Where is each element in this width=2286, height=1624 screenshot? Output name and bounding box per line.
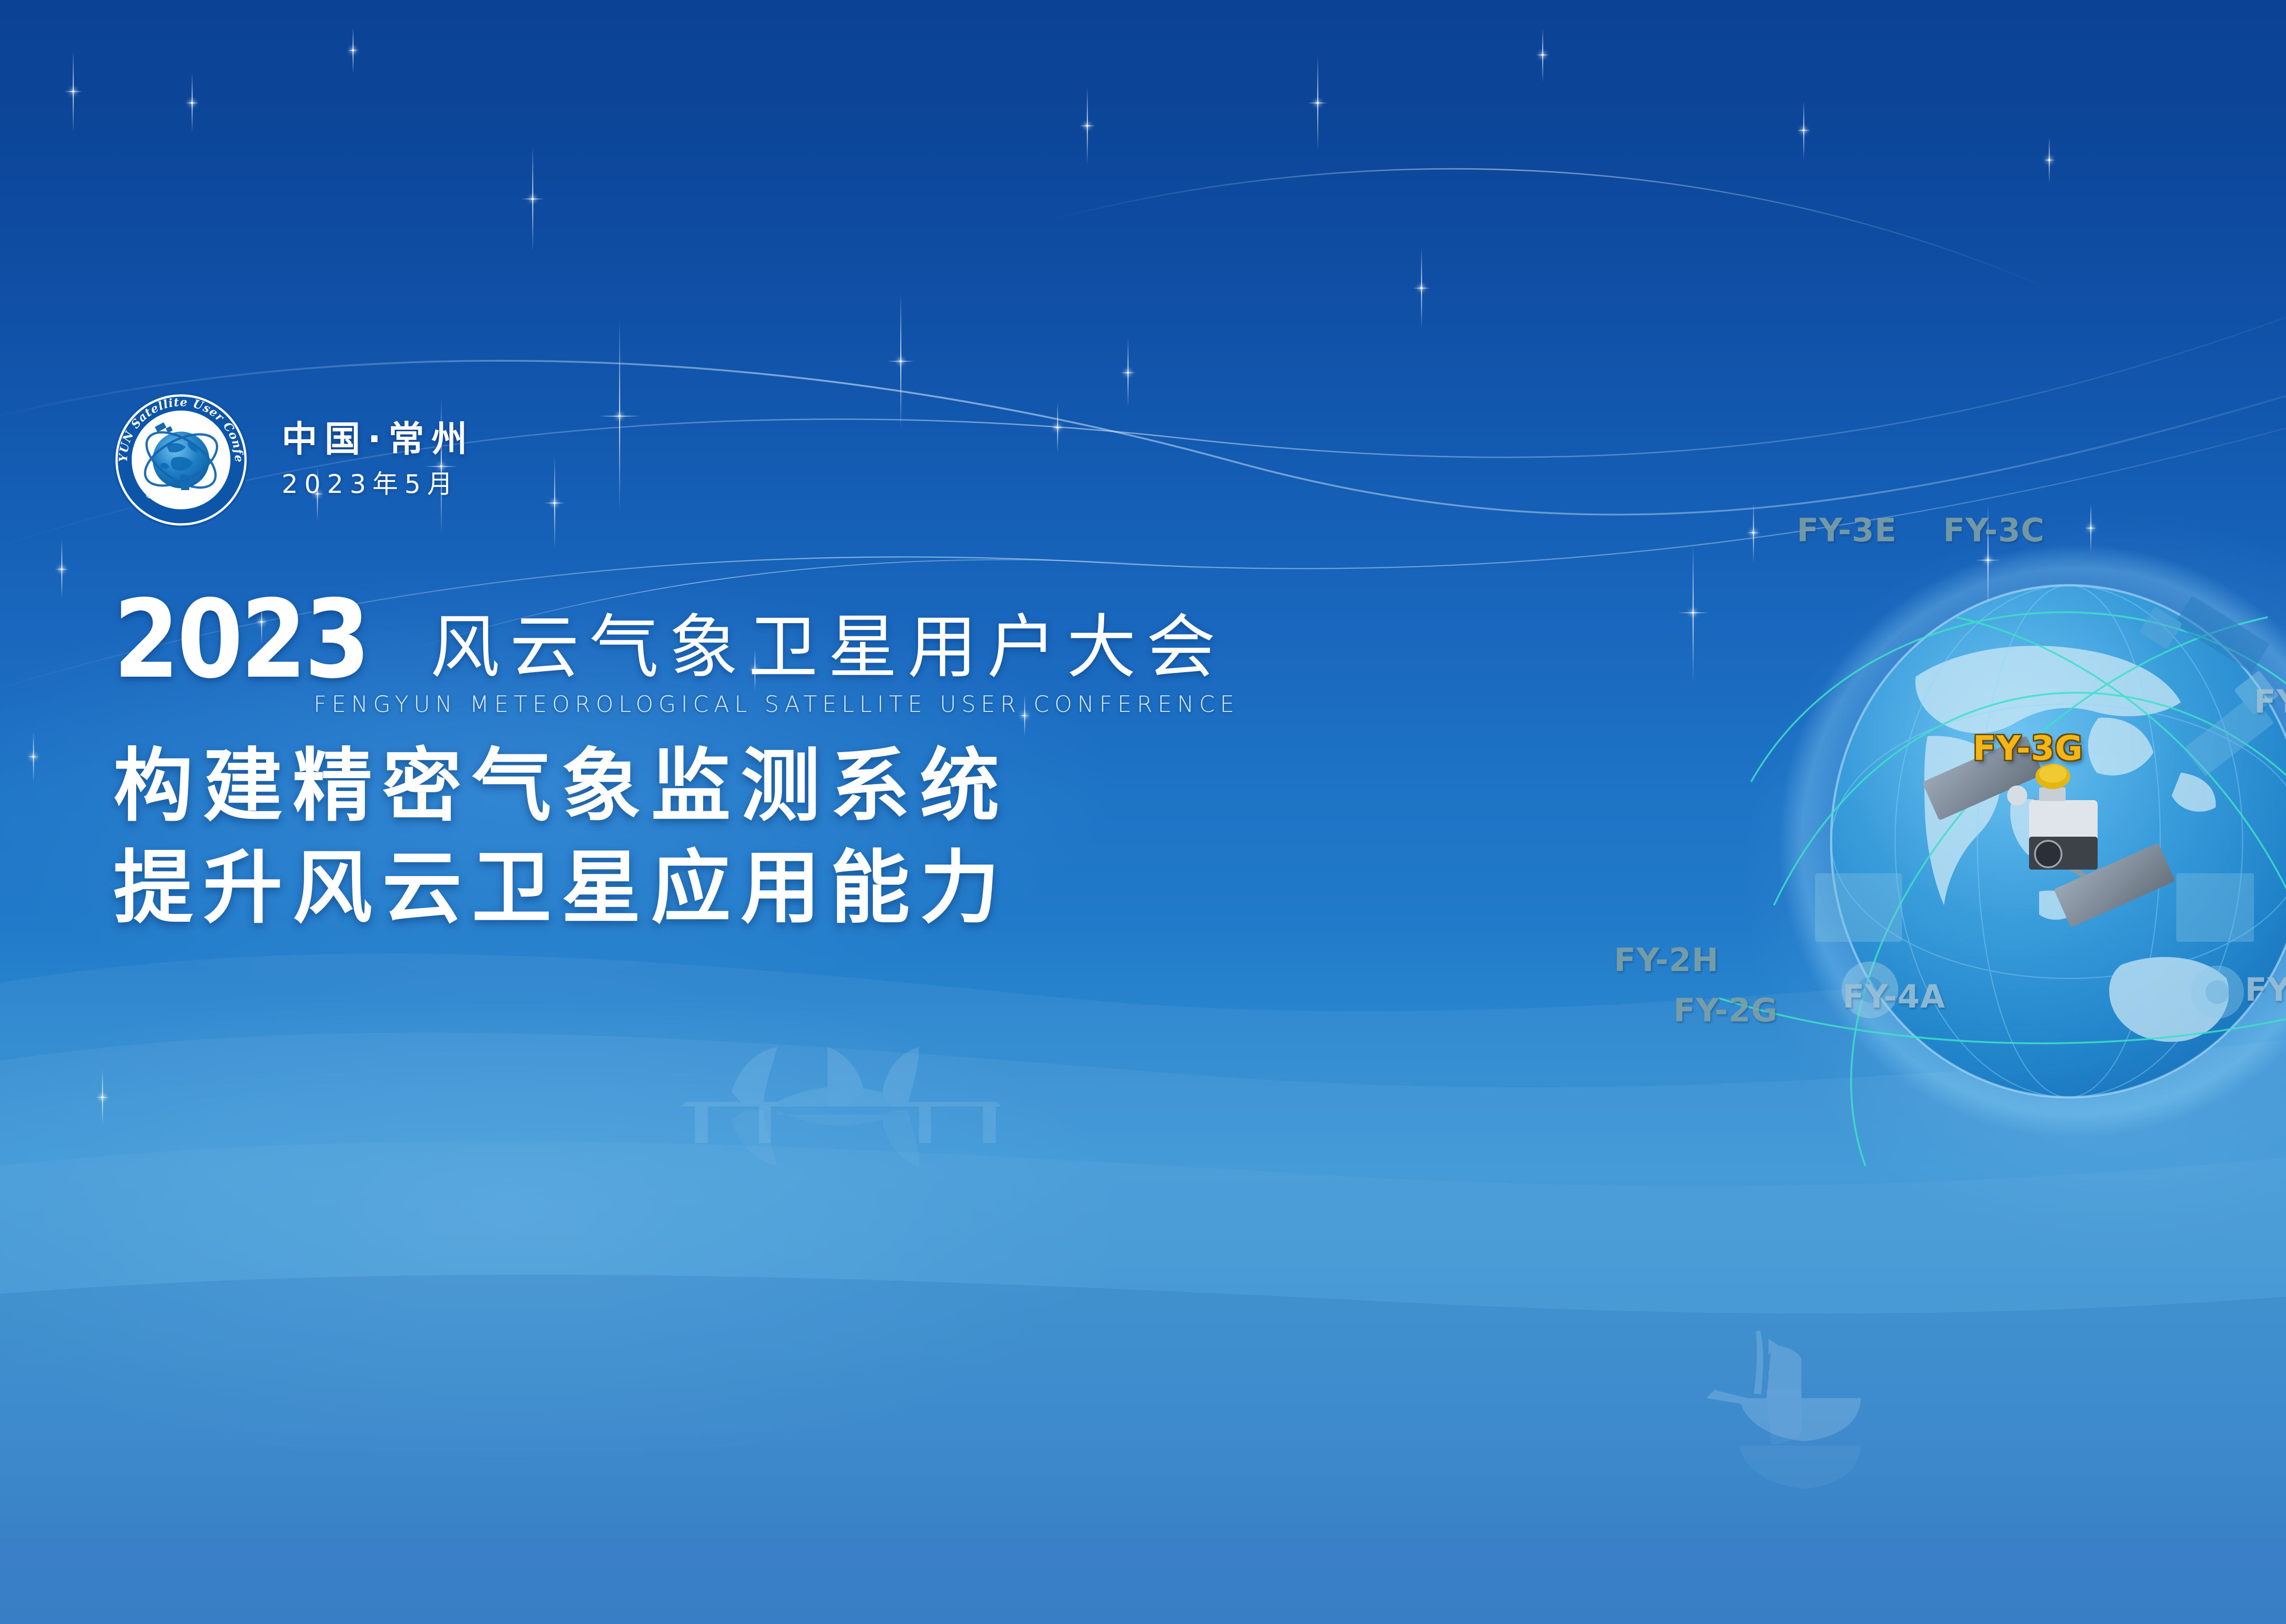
location-date: 2023年5月 (282, 472, 739, 497)
satellite-fy3e (1815, 873, 1902, 942)
location-block: 中国·常州 2023年5月 (282, 422, 739, 497)
title-row-primary: 2023 风云气象卫星用户大会 (113, 594, 1668, 685)
satellite-label-fy-2h: FY-2H (1614, 944, 1719, 976)
title-english-subtitle: FENGYUN METEOROLOGICAL SATELLITE USER CO… (314, 693, 1668, 716)
satellite-label-fy-3g: FY-3G (1973, 732, 2083, 765)
conference-poster: FENGYUN Satellite User Conference Changz… (0, 0, 2286, 1624)
satellite-label-fy-3d: FY-3D (2254, 686, 2286, 718)
globe-illustration (1719, 480, 2286, 1193)
logo-globe-icon (153, 432, 209, 488)
satellite-label-fy-4b: FY-4B (2245, 974, 2286, 1006)
location-city: 中国·常州 (282, 422, 739, 457)
title-block: 2023 风云气象卫星用户大会 FENGYUN METEOROLOGICAL S… (113, 594, 1668, 940)
slogan-block: 构建精密气象监测系统 提升风云卫星应用能力 (113, 736, 1668, 939)
satellite-label-fy-4a: FY-4A (1843, 981, 1945, 1013)
conference-logo: FENGYUN Satellite User Conference Changz… (112, 391, 250, 529)
satellite-label-fy-3c: FY-3C (1943, 514, 2045, 546)
bottom-glow (0, 869, 1463, 1624)
title-year: 2023 (113, 594, 368, 685)
satellite-label-fy-2g: FY-2G (1673, 994, 1778, 1026)
satellite-label-fy-3e: FY-3E (1797, 514, 1897, 546)
slogan-line-1: 构建精密气象监测系统 (113, 736, 1668, 838)
landmark-silhouette (626, 1033, 1056, 1180)
slogan-line-2: 提升风云卫星应用能力 (113, 838, 1668, 940)
title-chinese-main: 风云气象卫星用户大会 (430, 613, 1226, 685)
boat-silhouette (1646, 1276, 1929, 1513)
